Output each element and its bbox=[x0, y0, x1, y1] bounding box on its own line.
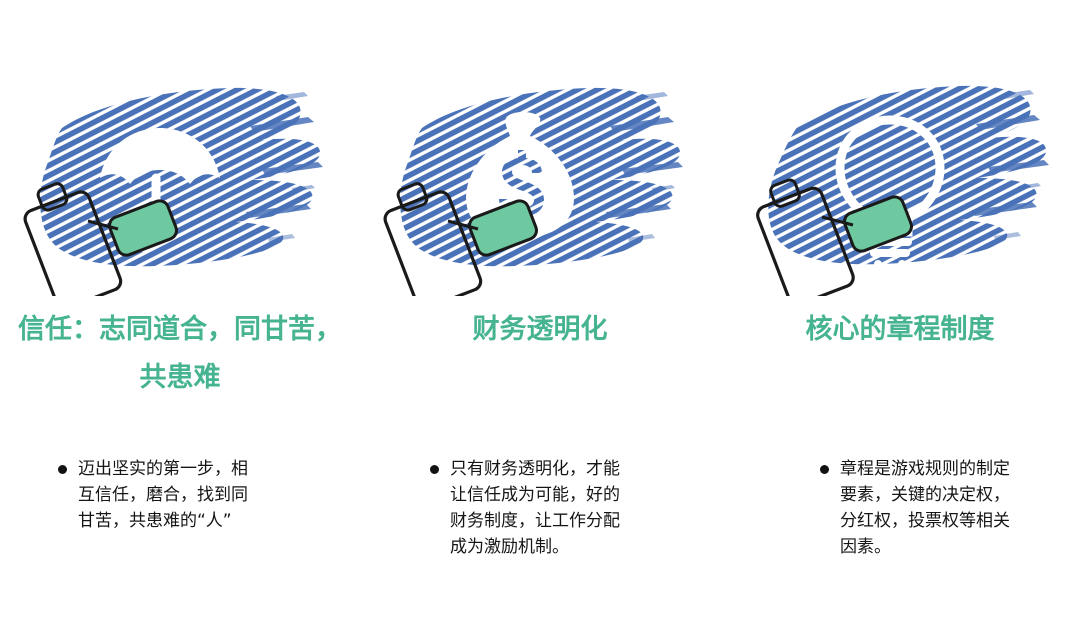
bullet-text: 迈出坚实的第一步，相互信任，磨合，找到同甘苦，共患难的“人” bbox=[78, 456, 250, 534]
slide-canvas: 信任：志同道合，同甘苦，共患难 迈出坚实的第一步，相互信任，磨合，找到同甘苦，共… bbox=[0, 0, 1080, 624]
column-heading-finance: 财务透明化 bbox=[360, 306, 720, 354]
column-heading-trust: 信任：志同道合，同甘苦，共患难 bbox=[0, 306, 360, 402]
bullet-list-charter: 章程是游戏规则的制定要素，关键的决定权，分红权，投票权等相关因素。 bbox=[820, 456, 1080, 560]
bullet-dot-icon bbox=[430, 465, 439, 474]
bullet-text: 只有财务透明化，才能让信任成为可能，好的财务制度，让工作分配成为激励机制。 bbox=[450, 456, 622, 560]
bullet-dot-icon bbox=[820, 465, 829, 474]
column-heading-charter: 核心的章程制度 bbox=[720, 306, 1080, 354]
artwork-umbrella bbox=[0, 66, 360, 296]
column-finance: 财务透明化 只有财务透明化，才能让信任成为可能，好的财务制度，让工作分配成为激励… bbox=[360, 0, 720, 624]
artwork-lightbulb bbox=[720, 66, 1080, 296]
bullet-text: 章程是游戏规则的制定要素，关键的决定权，分红权，投票权等相关因素。 bbox=[840, 456, 1012, 560]
column-charter: 核心的章程制度 章程是游戏规则的制定要素，关键的决定权，分红权，投票权等相关因素… bbox=[720, 0, 1080, 624]
bullet-dot-icon bbox=[58, 465, 67, 474]
money-bag-icon bbox=[360, 66, 720, 296]
list-item: 章程是游戏规则的制定要素，关键的决定权，分红权，投票权等相关因素。 bbox=[820, 456, 1080, 560]
column-trust: 信任：志同道合，同甘苦，共患难 迈出坚实的第一步，相互信任，磨合，找到同甘苦，共… bbox=[0, 0, 360, 624]
three-column-layout: 信任：志同道合，同甘苦，共患难 迈出坚实的第一步，相互信任，磨合，找到同甘苦，共… bbox=[0, 0, 1080, 624]
brush-stroke-shape bbox=[0, 66, 360, 296]
artwork-money-bag bbox=[360, 66, 720, 296]
